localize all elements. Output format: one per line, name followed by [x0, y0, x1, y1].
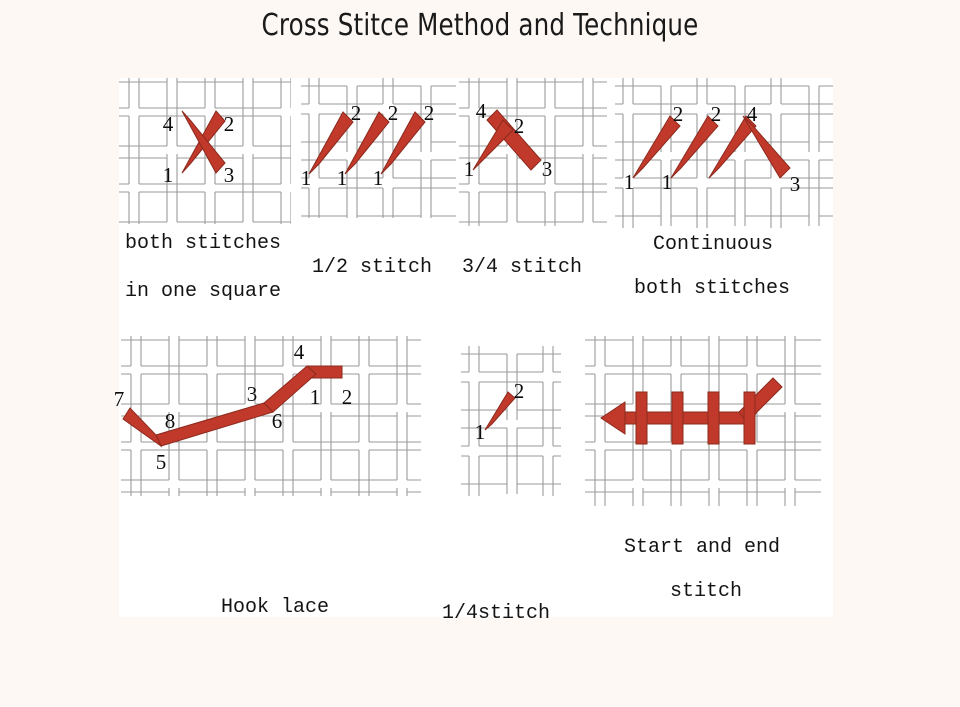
caption-three-quarter-stitch: 3/4 stitch: [462, 256, 582, 279]
figure-both-stitches-one-square: 4 2 1 3: [119, 78, 291, 224]
fig2-label-1b: 1: [337, 166, 348, 190]
figure-start-and-end-stitch: [585, 336, 821, 506]
fig2-label-1a: 1: [301, 166, 312, 190]
caption-start-end-line1: Start and end: [624, 536, 780, 559]
fig2-label-2b: 2: [388, 101, 399, 125]
fig4-label-1a: 1: [624, 170, 635, 194]
fig5-label-1: 1: [310, 385, 321, 409]
figure-half-stitch: 2 2 2 1 1 1: [301, 78, 456, 218]
slide-root: Cross Stitce Method and Technique: [0, 0, 960, 707]
fig3-label-4: 4: [476, 99, 487, 123]
fig1-label-3: 3: [224, 163, 235, 187]
fig5-label-3: 3: [247, 382, 258, 406]
fig1-label-1: 1: [163, 163, 174, 187]
figure-quarter-stitch: 2 1: [461, 346, 561, 496]
figure-three-quarter-stitch: 4 2 1 3: [459, 78, 607, 226]
fig4-label-2a: 2: [673, 102, 684, 126]
fig4-label-3: 3: [790, 172, 801, 196]
caption-both-stitches-line1: both stitches: [125, 232, 281, 255]
fig4-label-2b: 2: [711, 102, 722, 126]
page-title: Cross Stitce Method and Technique: [86, 8, 873, 43]
fig3-label-3: 3: [542, 157, 553, 181]
fig4-label-1b: 1: [662, 170, 673, 194]
fig6-label-1: 1: [475, 420, 486, 444]
caption-start-end-line2: stitch: [670, 580, 742, 603]
caption-half-stitch: 1/2 stitch: [312, 256, 432, 279]
fig2-label-1c: 1: [373, 166, 384, 190]
figure-continuous-both-stitches: 2 2 4 1 1 3: [615, 78, 833, 228]
fig5-label-5: 5: [156, 450, 167, 474]
caption-hook-lace: Hook lace: [221, 596, 329, 619]
fig3-label-1: 1: [464, 157, 475, 181]
fig5-label-4: 4: [294, 340, 305, 364]
fig1-label-4: 4: [163, 112, 174, 136]
caption-continuous-line2: both stitches: [634, 277, 790, 300]
fig4-label-4: 4: [747, 102, 758, 126]
fig1-label-2: 2: [224, 112, 235, 136]
fig5-label-2: 2: [342, 385, 353, 409]
figure-hook-lace: 7 8 5 3 6 4 1 2: [114, 336, 421, 496]
fig3-label-2: 2: [514, 114, 525, 138]
fig2-label-2a: 2: [351, 101, 362, 125]
fig5-label-8: 8: [165, 409, 176, 433]
caption-both-stitches-line2: in one square: [125, 280, 281, 303]
fig2-label-2c: 2: [424, 101, 435, 125]
fig6-label-2: 2: [514, 379, 525, 403]
caption-continuous-line1: Continuous: [653, 233, 773, 256]
fig5-label-7: 7: [114, 387, 125, 411]
diagram-panel: 4 2 1 3 2 2 2 1 1 1: [119, 78, 833, 617]
caption-quarter-stitch: 1/4stitch: [442, 602, 550, 625]
fig5-label-6: 6: [272, 409, 283, 433]
